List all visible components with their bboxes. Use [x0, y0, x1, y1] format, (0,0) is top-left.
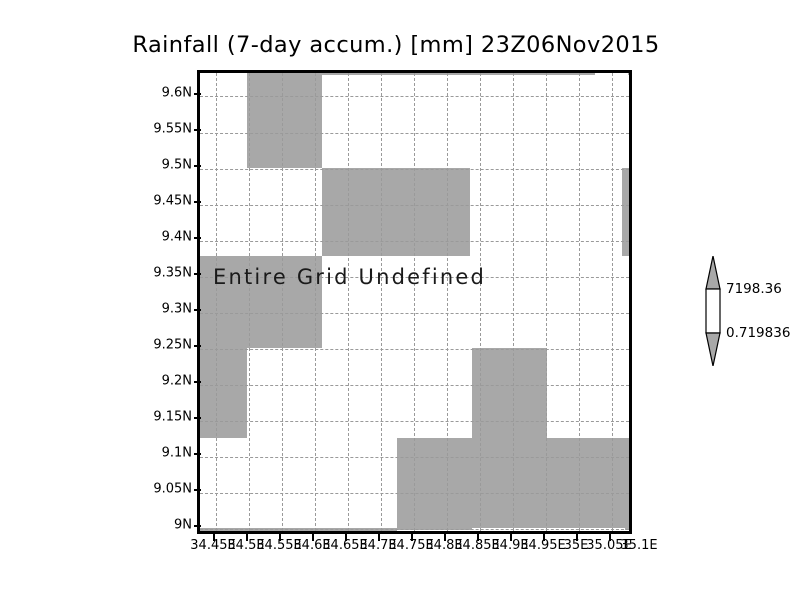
- y-axis-tick: [194, 345, 201, 347]
- mask-block-gap: [472, 528, 625, 531]
- y-tick-label: 9.15N: [153, 410, 192, 425]
- plot-area: [200, 73, 629, 531]
- gridline-horizontal: [200, 385, 629, 386]
- gridline-horizontal: [200, 421, 629, 422]
- y-tick-label: 9.2N: [162, 374, 192, 389]
- y-tick-label: 9.1N: [162, 446, 192, 461]
- plot-frame: [197, 70, 632, 534]
- y-axis-tick: [194, 129, 201, 131]
- y-tick-label: 9.5N: [162, 158, 192, 173]
- y-axis-tick: [194, 201, 201, 203]
- gridline-vertical: [348, 73, 349, 531]
- x-axis-tick: [312, 534, 314, 541]
- gridline-vertical: [381, 73, 382, 531]
- y-tick-label: 9.25N: [153, 338, 192, 353]
- y-tick-label: 9.55N: [153, 122, 192, 137]
- y-axis-tick: [194, 237, 201, 239]
- y-axis-tick: [194, 93, 201, 95]
- x-axis-tick: [444, 534, 446, 541]
- y-axis-tick: [194, 489, 201, 491]
- x-axis-tick: [246, 534, 248, 541]
- y-tick-label: 9.45N: [153, 194, 192, 209]
- y-tick-label: 9.4N: [162, 230, 192, 245]
- x-axis-tick: [510, 534, 512, 541]
- y-tick-label: 9.6N: [162, 86, 192, 101]
- x-axis-tick: [378, 534, 380, 541]
- x-axis-tick: [345, 534, 347, 541]
- x-axis-labels: 34.45E 34.5E 34.55E 34.6E 34.65E 34.7E 3…: [197, 538, 632, 560]
- y-axis-tick: [194, 453, 201, 455]
- y-axis-labels: 9.6N 9.55N 9.5N 9.45N 9.4N 9.35N 9.3N 9.…: [130, 70, 192, 534]
- x-axis-tick: [411, 534, 413, 541]
- x-axis-tick: [609, 534, 611, 541]
- x-tick-label: 35.1E: [620, 538, 657, 553]
- mask-block: [322, 73, 595, 75]
- x-axis-tick: [213, 534, 215, 541]
- colorbar-max-label: 7198.36: [726, 281, 782, 297]
- page-title: Rainfall (7-day accum.) [mm] 23Z06Nov201…: [0, 32, 792, 58]
- x-axis-tick: [543, 534, 545, 541]
- y-axis-tick: [194, 417, 201, 419]
- colorbar-min-label: 0.719836: [726, 325, 790, 341]
- x-axis-tick: [576, 534, 578, 541]
- mask-block: [247, 73, 322, 168]
- y-axis-tick: [194, 381, 201, 383]
- y-tick-label: 9.35N: [153, 266, 192, 281]
- mask-block: [622, 168, 629, 256]
- y-tick-label: 9.05N: [153, 482, 192, 497]
- y-axis-tick: [194, 273, 201, 275]
- colorbar-mid-box: [706, 289, 720, 333]
- colorbar-top-arrow: [706, 256, 720, 289]
- mask-block: [200, 528, 397, 531]
- mask-block: [322, 168, 470, 256]
- x-axis-tick: [279, 534, 281, 541]
- y-tick-label: 9.3N: [162, 302, 192, 317]
- colorbar-swatch: [700, 256, 726, 366]
- entire-grid-undefined-message: Entire Grid Undefined: [213, 265, 486, 289]
- y-axis-tick: [194, 525, 201, 527]
- colorbar: [700, 256, 726, 366]
- mask-block: [472, 348, 547, 438]
- mask-block: [200, 348, 247, 438]
- y-axis-tick: [194, 309, 201, 311]
- mask-block: [628, 73, 629, 75]
- mask-block: [397, 438, 629, 530]
- gridline-horizontal: [200, 349, 629, 350]
- y-axis-tick: [194, 165, 201, 167]
- colorbar-bottom-arrow: [706, 333, 720, 366]
- x-axis-tick: [477, 534, 479, 541]
- y-tick-label: 9N: [174, 518, 192, 533]
